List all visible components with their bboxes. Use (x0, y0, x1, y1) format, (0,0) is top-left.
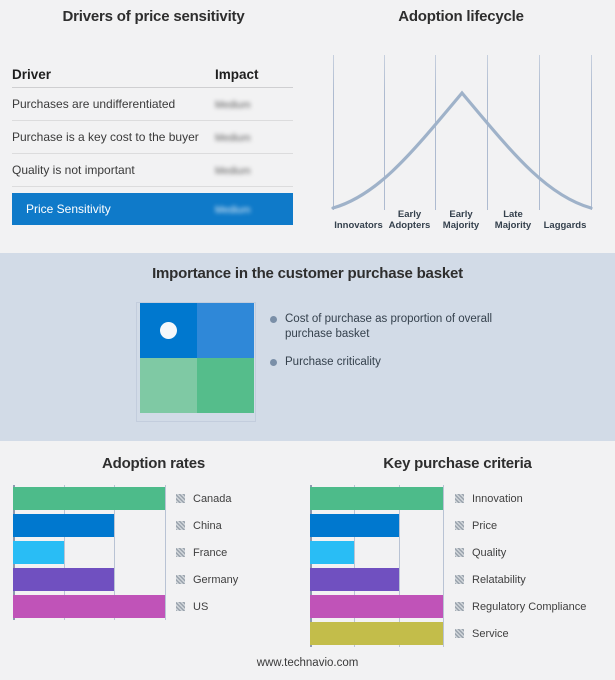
table-row[interactable]: Purchase is a key cost to the buyer Medi… (12, 121, 293, 154)
matrix-quadrant-bottom-left[interactable] (140, 358, 197, 413)
bar[interactable] (13, 487, 165, 510)
impact-value: Medium (215, 166, 251, 177)
bar[interactable] (310, 514, 399, 537)
driver-impact: Medium (215, 202, 293, 216)
matrix-position-marker (160, 322, 177, 339)
table-row-highlighted[interactable]: Price Sensitivity Medium (12, 193, 293, 225)
adoption-lifecycle-chart: Innovators Early Adopters Early Majority… (319, 55, 603, 230)
legend-swatch-icon (455, 494, 464, 503)
legend-swatch-icon (176, 521, 185, 530)
lifecycle-label-laggards: Laggards (539, 221, 591, 232)
legend-item[interactable]: Quality (455, 539, 586, 566)
table-row[interactable]: Quality is not important Medium (12, 154, 293, 187)
adoption-rates-chart (13, 485, 167, 620)
legend-swatch-icon (455, 575, 464, 584)
legend-label: France (193, 547, 227, 559)
driver-name: Purchase is a key cost to the buyer (12, 130, 215, 144)
matrix-quadrant-top-left[interactable] (140, 303, 197, 358)
bar[interactable] (13, 541, 64, 564)
purchase-basket-legend: Cost of purchase as proportion of overal… (270, 312, 600, 384)
legend-item[interactable]: Canada (176, 485, 238, 512)
lifecycle-label-early-adopters: Early Adopters (384, 210, 435, 231)
legend-item[interactable]: France (176, 539, 238, 566)
bullet-dot-icon (270, 316, 277, 323)
chart-gridline (165, 485, 166, 620)
key-purchase-criteria-legend: InnovationPriceQualityRelatabilityRegula… (455, 485, 586, 647)
legend-swatch-icon (176, 602, 185, 611)
bar[interactable] (310, 487, 443, 510)
adoption-rates-legend: CanadaChinaFranceGermanyUS (176, 485, 238, 620)
legend-item[interactable]: US (176, 593, 238, 620)
adoption-rates-title: Adoption rates (0, 455, 307, 472)
lifecycle-bell-curve (319, 55, 603, 213)
legend-item[interactable]: Innovation (455, 485, 586, 512)
driver-name: Quality is not important (12, 163, 215, 177)
lifecycle-label-innovators: Innovators (333, 221, 384, 232)
legend-item[interactable]: Regulatory Compliance (455, 593, 586, 620)
bar[interactable] (310, 622, 443, 645)
bar[interactable] (310, 541, 354, 564)
table-row[interactable]: Purchases are undifferentiated Medium (12, 88, 293, 121)
legend-label: China (193, 520, 222, 532)
legend-label: Purchase criticality (285, 355, 381, 370)
legend-swatch-icon (455, 521, 464, 530)
driver-impact: Medium (215, 97, 293, 111)
adoption-lifecycle-title: Adoption lifecycle (307, 8, 615, 25)
bar[interactable] (310, 595, 443, 618)
legend-label: Innovation (472, 493, 523, 505)
bar[interactable] (310, 568, 399, 591)
key-purchase-criteria-card: Key purchase criteria InnovationPriceQua… (300, 441, 615, 680)
driver-impact: Medium (215, 130, 293, 144)
matrix-quadrant-top-right[interactable] (197, 303, 254, 358)
legend-item[interactable]: China (176, 512, 238, 539)
legend-label: Cost of purchase as proportion of overal… (285, 312, 500, 341)
legend-item[interactable]: Service (455, 620, 586, 647)
matrix-quadrant-bottom-right[interactable] (197, 358, 254, 413)
drivers-of-price-sensitivity-card: Drivers of price sensitivity Driver Impa… (0, 0, 307, 253)
drivers-table: Driver Impact Purchases are undifferenti… (12, 62, 293, 225)
drivers-title: Drivers of price sensitivity (0, 8, 307, 25)
legend-swatch-icon (176, 548, 185, 557)
legend-label: US (193, 601, 208, 613)
driver-name: Price Sensitivity (26, 202, 215, 216)
table-header-row: Driver Impact (12, 62, 293, 88)
legend-item[interactable]: Price (455, 512, 586, 539)
key-purchase-criteria-chart (310, 485, 445, 647)
footer-url: www.technavio.com (0, 657, 615, 669)
legend-label: Price (472, 520, 497, 532)
chart-gridline (443, 485, 444, 647)
lifecycle-label-early-majority: Early Majority (435, 210, 487, 231)
bullet-dot-icon (270, 359, 277, 366)
column-header-impact: Impact (215, 67, 293, 82)
driver-name: Purchases are undifferentiated (12, 97, 215, 111)
bar[interactable] (13, 514, 114, 537)
impact-value: Medium (215, 205, 251, 216)
legend-label: Quality (472, 547, 506, 559)
legend-label: Service (472, 628, 509, 640)
legend-swatch-icon (176, 575, 185, 584)
driver-impact: Medium (215, 163, 293, 177)
legend-label: Canada (193, 493, 232, 505)
legend-swatch-icon (455, 602, 464, 611)
legend-item[interactable]: Relatability (455, 566, 586, 593)
column-header-driver: Driver (12, 67, 215, 82)
legend-swatch-icon (455, 548, 464, 557)
purchase-basket-title: Importance in the customer purchase bask… (0, 265, 615, 282)
adoption-lifecycle-card: Adoption lifecycle Innovators Early Adop… (307, 0, 615, 253)
legend-item: Purchase criticality (270, 355, 600, 370)
key-purchase-criteria-title: Key purchase criteria (300, 455, 615, 472)
bar[interactable] (13, 568, 114, 591)
lifecycle-label-late-majority: Late Majority (487, 210, 539, 231)
legend-item: Cost of purchase as proportion of overal… (270, 312, 600, 341)
purchase-basket-matrix (140, 303, 254, 413)
legend-label: Relatability (472, 574, 526, 586)
legend-item[interactable]: Germany (176, 566, 238, 593)
legend-swatch-icon (176, 494, 185, 503)
adoption-rates-card: Adoption rates CanadaChinaFranceGermanyU… (0, 441, 307, 680)
bar[interactable] (13, 595, 165, 618)
legend-swatch-icon (455, 629, 464, 638)
legend-label: Regulatory Compliance (472, 601, 586, 613)
impact-value: Medium (215, 100, 251, 111)
legend-label: Germany (193, 574, 238, 586)
impact-value: Medium (215, 133, 251, 144)
